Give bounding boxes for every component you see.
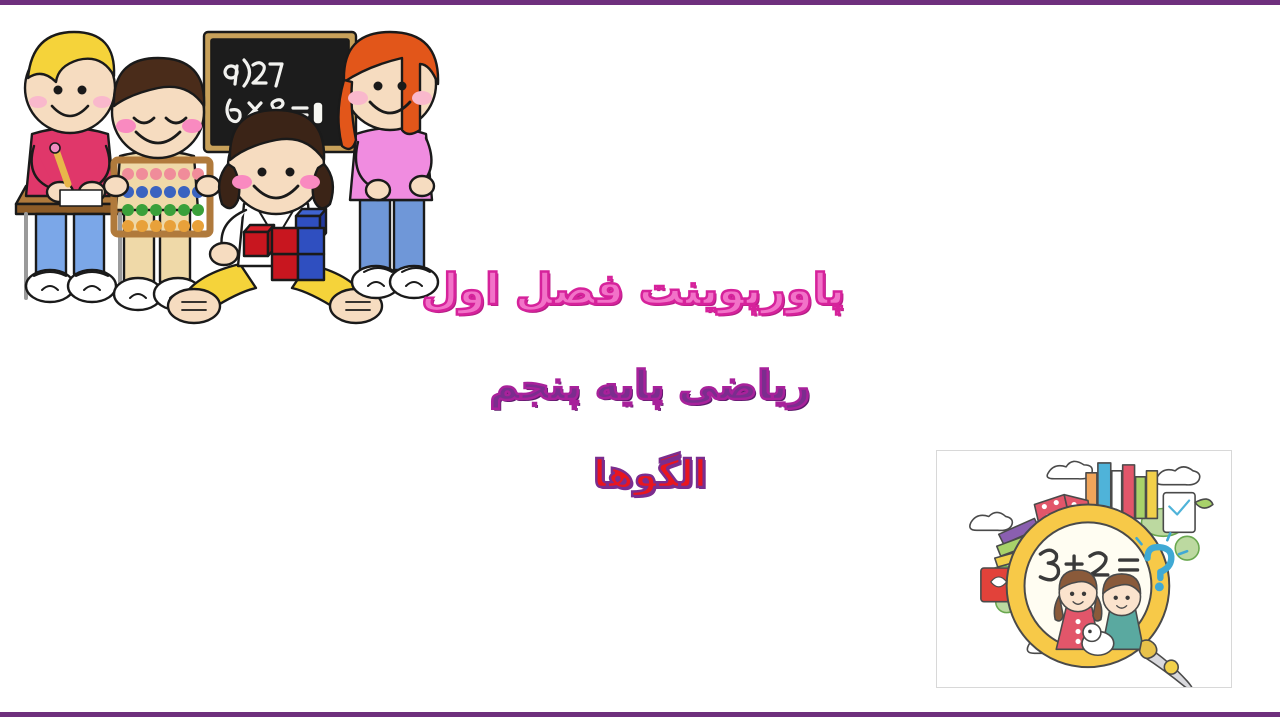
magnifying-glass-math-clipart (936, 450, 1232, 688)
title-line-chapter: پاورپوینت فصل اول (455, 268, 845, 313)
slide-canvas: پاورپوینت فصل اول ریاضی پایه پنجم الگوها (0, 0, 1280, 720)
bottom-accent-rule (0, 712, 1280, 717)
classroom-children-clipart (8, 14, 450, 344)
slide-title-block: پاورپوینت فصل اول ریاضی پایه پنجم الگوها (455, 268, 845, 495)
title-line-subject: ریاضی پایه پنجم (455, 365, 845, 407)
top-accent-rule (0, 0, 1280, 5)
title-line-topic: الگوها (455, 455, 845, 495)
